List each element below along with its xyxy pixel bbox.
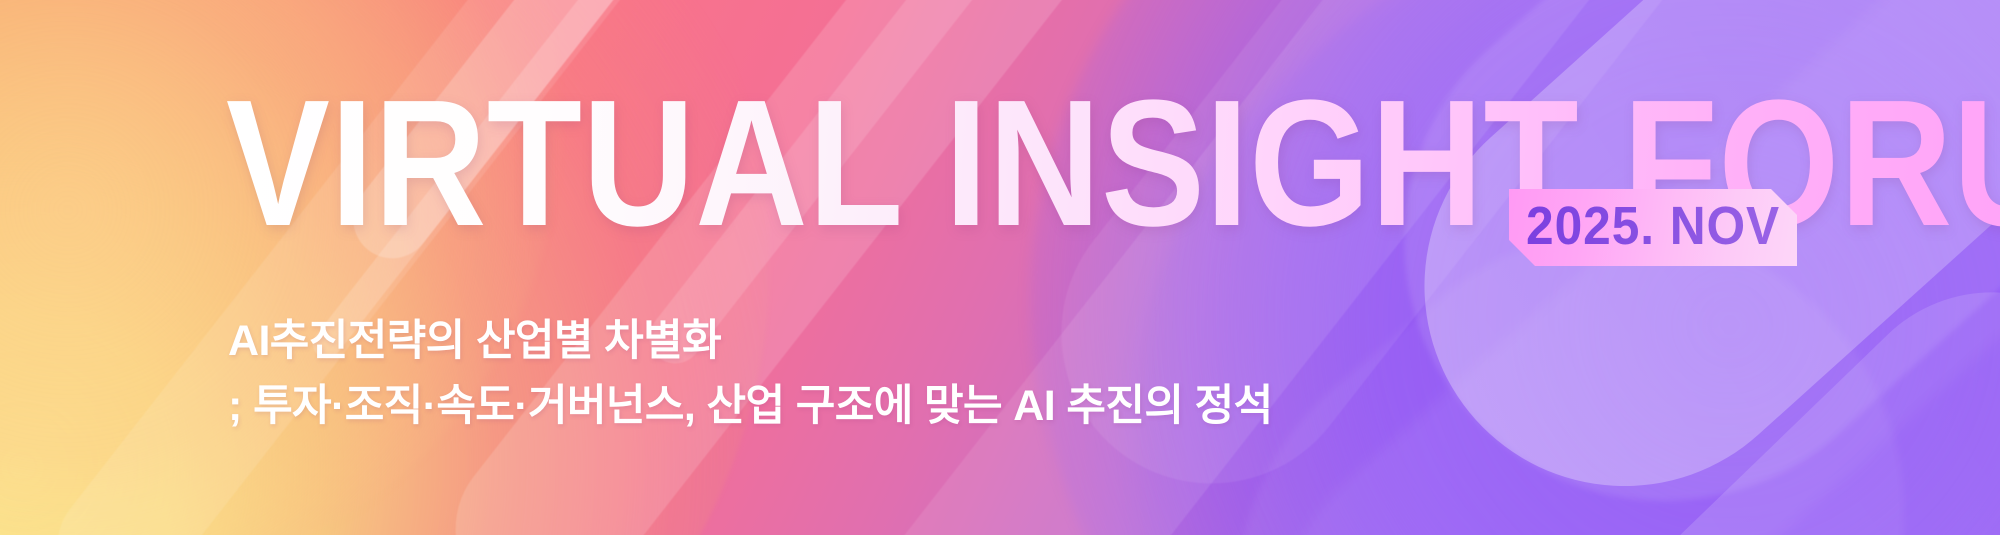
- banner-subtitle: AI추진전략의 산업별 차별화 ; 투자·조직·속도·거버넌스, 산업 구조에 …: [228, 309, 1273, 439]
- subtitle-line-1: AI추진전략의 산업별 차별화: [228, 309, 1273, 374]
- date-badge: 2025. NOV: [1509, 189, 1797, 266]
- date-badge-label: 2025. NOV: [1526, 199, 1780, 256]
- subtitle-line-2: ; 투자·조직·속도·거버넌스, 산업 구조에 맞는 AI 추진의 정석: [228, 374, 1273, 439]
- banner-content: VIRTUAL INSIGHT FORUM 2025. NOV AI추진전략의 …: [0, 0, 2000, 535]
- event-promo-banner: VIRTUAL INSIGHT FORUM 2025. NOV AI추진전략의 …: [0, 0, 2000, 535]
